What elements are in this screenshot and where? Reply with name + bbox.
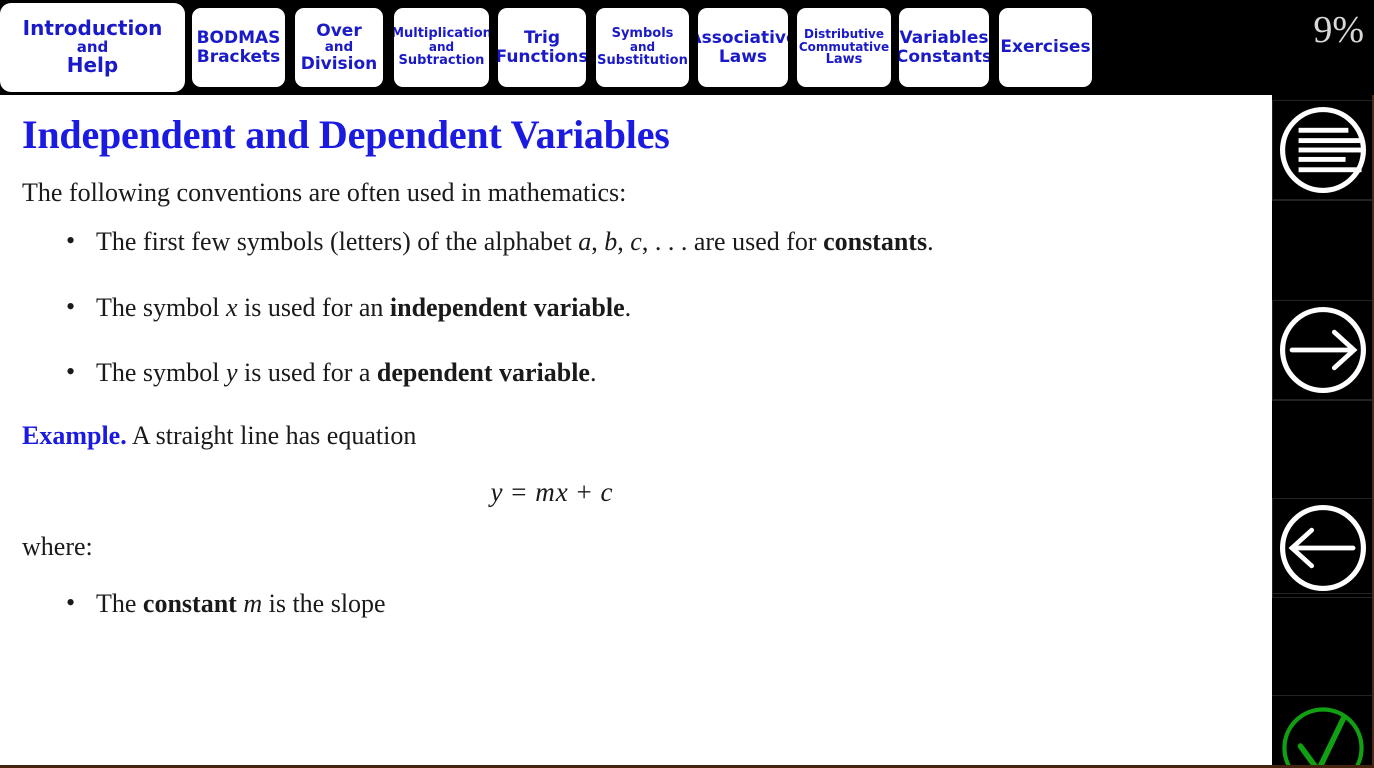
- tab-label-line: Division: [301, 55, 378, 73]
- text-run: ,: [617, 227, 630, 256]
- where-label: where:: [22, 532, 1242, 562]
- math-variable: m: [243, 589, 262, 618]
- example-sentence: A straight line has equation: [132, 421, 417, 450]
- math-variable: mx: [535, 477, 568, 507]
- tab-label-line: Help: [67, 55, 118, 76]
- text-run: .: [590, 358, 597, 387]
- tab-label-line: Multiplication: [394, 27, 489, 41]
- tab-trig-functions[interactable]: TrigFunctions: [498, 8, 586, 87]
- tab-label-line: Brackets: [197, 48, 281, 66]
- conventions-list: The first few symbols (letters) of the a…: [22, 222, 1242, 393]
- previous-page-button[interactable]: [1272, 498, 1374, 598]
- text-run: , . . . are used for: [642, 227, 823, 256]
- math-operator: +: [569, 477, 601, 507]
- tab-label-line: and: [630, 41, 655, 54]
- example-paragraph: Example. A straight line has equation: [22, 421, 1242, 451]
- page-title: Independent and Dependent Variables: [22, 111, 1242, 158]
- text-run: .: [625, 293, 632, 322]
- list-item: The symbol x is used for an independent …: [22, 288, 1032, 328]
- where-list: The constant m is the slope: [22, 584, 1242, 623]
- text-run: is used for a: [238, 358, 377, 387]
- tab-variables-constants[interactable]: VariablesConstants: [899, 8, 989, 87]
- menu-icon: [1276, 103, 1370, 197]
- intro-paragraph: The following conventions are often used…: [22, 178, 1242, 208]
- text-run: The first few symbols (letters) of the a…: [96, 227, 578, 256]
- arrow-left-icon: [1276, 501, 1370, 595]
- text-run: The: [96, 589, 143, 618]
- tab-label-line: and: [429, 41, 454, 54]
- tab-label-line: Over: [316, 22, 361, 40]
- example-label: Example.: [22, 421, 127, 450]
- math-variable: x: [226, 293, 238, 322]
- tab-over-and-division[interactable]: OverandDivision: [295, 8, 383, 87]
- math-variable: y: [491, 477, 504, 507]
- tab-label-line: Exercises: [1000, 38, 1090, 56]
- tab-label-line: Constants: [899, 48, 989, 66]
- sidebar-divider: [1272, 400, 1374, 401]
- tab-label-line: Associative: [698, 29, 788, 47]
- tab-multiplication-and-subtraction[interactable]: MultiplicationandSubtraction: [394, 8, 489, 87]
- tab-label-line: Distributive: [804, 28, 884, 41]
- math-variable: a: [578, 227, 591, 256]
- text-run: The symbol: [96, 293, 226, 322]
- math-operator: =: [504, 477, 536, 507]
- tab-label-line: Trig: [524, 29, 560, 47]
- list-item: The constant m is the slope: [22, 584, 1242, 623]
- slide-content-pane: Independent and Dependent Variables The …: [0, 95, 1272, 766]
- tab-introduction-and-help[interactable]: IntroductionandHelp: [0, 3, 185, 92]
- tab-label-line: BODMAS: [197, 29, 281, 47]
- text-run: ,: [591, 227, 604, 256]
- navigation-sidebar: [1272, 95, 1374, 766]
- tab-exercises[interactable]: Exercises: [999, 8, 1092, 87]
- equation-display: y = mx + c: [22, 477, 1242, 508]
- tab-associative-laws[interactable]: AssociativeLaws: [698, 8, 788, 87]
- tab-label-line: Variables: [899, 29, 988, 47]
- tab-symbols-and-substitution[interactable]: SymbolsandSubstitution: [596, 8, 689, 87]
- text-run: The symbol: [96, 358, 226, 387]
- contents-button[interactable]: [1272, 100, 1374, 200]
- tab-label-line: Laws: [719, 48, 767, 66]
- text-run: is the slope: [262, 589, 386, 618]
- tab-label-line: and: [325, 40, 353, 54]
- check-circle-icon: [1276, 701, 1370, 768]
- text-run: is used for an: [238, 293, 390, 322]
- emphasis-term: dependent variable: [377, 358, 590, 387]
- tab-label-line: Functions: [498, 48, 586, 66]
- sidebar-divider: [1272, 695, 1374, 696]
- text-run: .: [927, 227, 934, 256]
- progress-percent-label: 9%: [1313, 8, 1364, 52]
- emphasis-term: constant: [143, 589, 237, 618]
- slide-body: Independent and Dependent Variables The …: [0, 95, 1272, 623]
- tab-bodmas-brackets[interactable]: BODMASBrackets: [192, 8, 285, 87]
- list-item: The first few symbols (letters) of the a…: [22, 222, 1032, 262]
- tab-distributive-commutative-laws[interactable]: DistributiveCommutativeLaws: [797, 8, 891, 87]
- tab-label-line: Laws: [826, 53, 863, 67]
- tab-bar: IntroductionandHelpBODMASBracketsOverand…: [0, 0, 1374, 95]
- tab-label-line: Introduction: [23, 18, 163, 39]
- example-block: Example. A straight line has equation: [22, 421, 1242, 451]
- math-variable: c: [630, 227, 642, 256]
- emphasis-term: independent variable: [390, 293, 625, 322]
- math-variable: y: [226, 358, 238, 387]
- tab-label-line: Symbols: [612, 27, 674, 41]
- sidebar-divider: [1272, 200, 1374, 201]
- tab-label-line: Substitution: [597, 54, 688, 68]
- emphasis-term: constants: [823, 227, 927, 256]
- list-item: The symbol y is used for a dependent var…: [22, 353, 1032, 393]
- math-variable: c: [600, 477, 613, 507]
- confirm-button[interactable]: [1272, 698, 1374, 768]
- tab-label-line: Subtraction: [399, 54, 485, 68]
- arrow-right-icon: [1276, 303, 1370, 397]
- math-variable: b: [604, 227, 617, 256]
- next-page-button[interactable]: [1272, 300, 1374, 400]
